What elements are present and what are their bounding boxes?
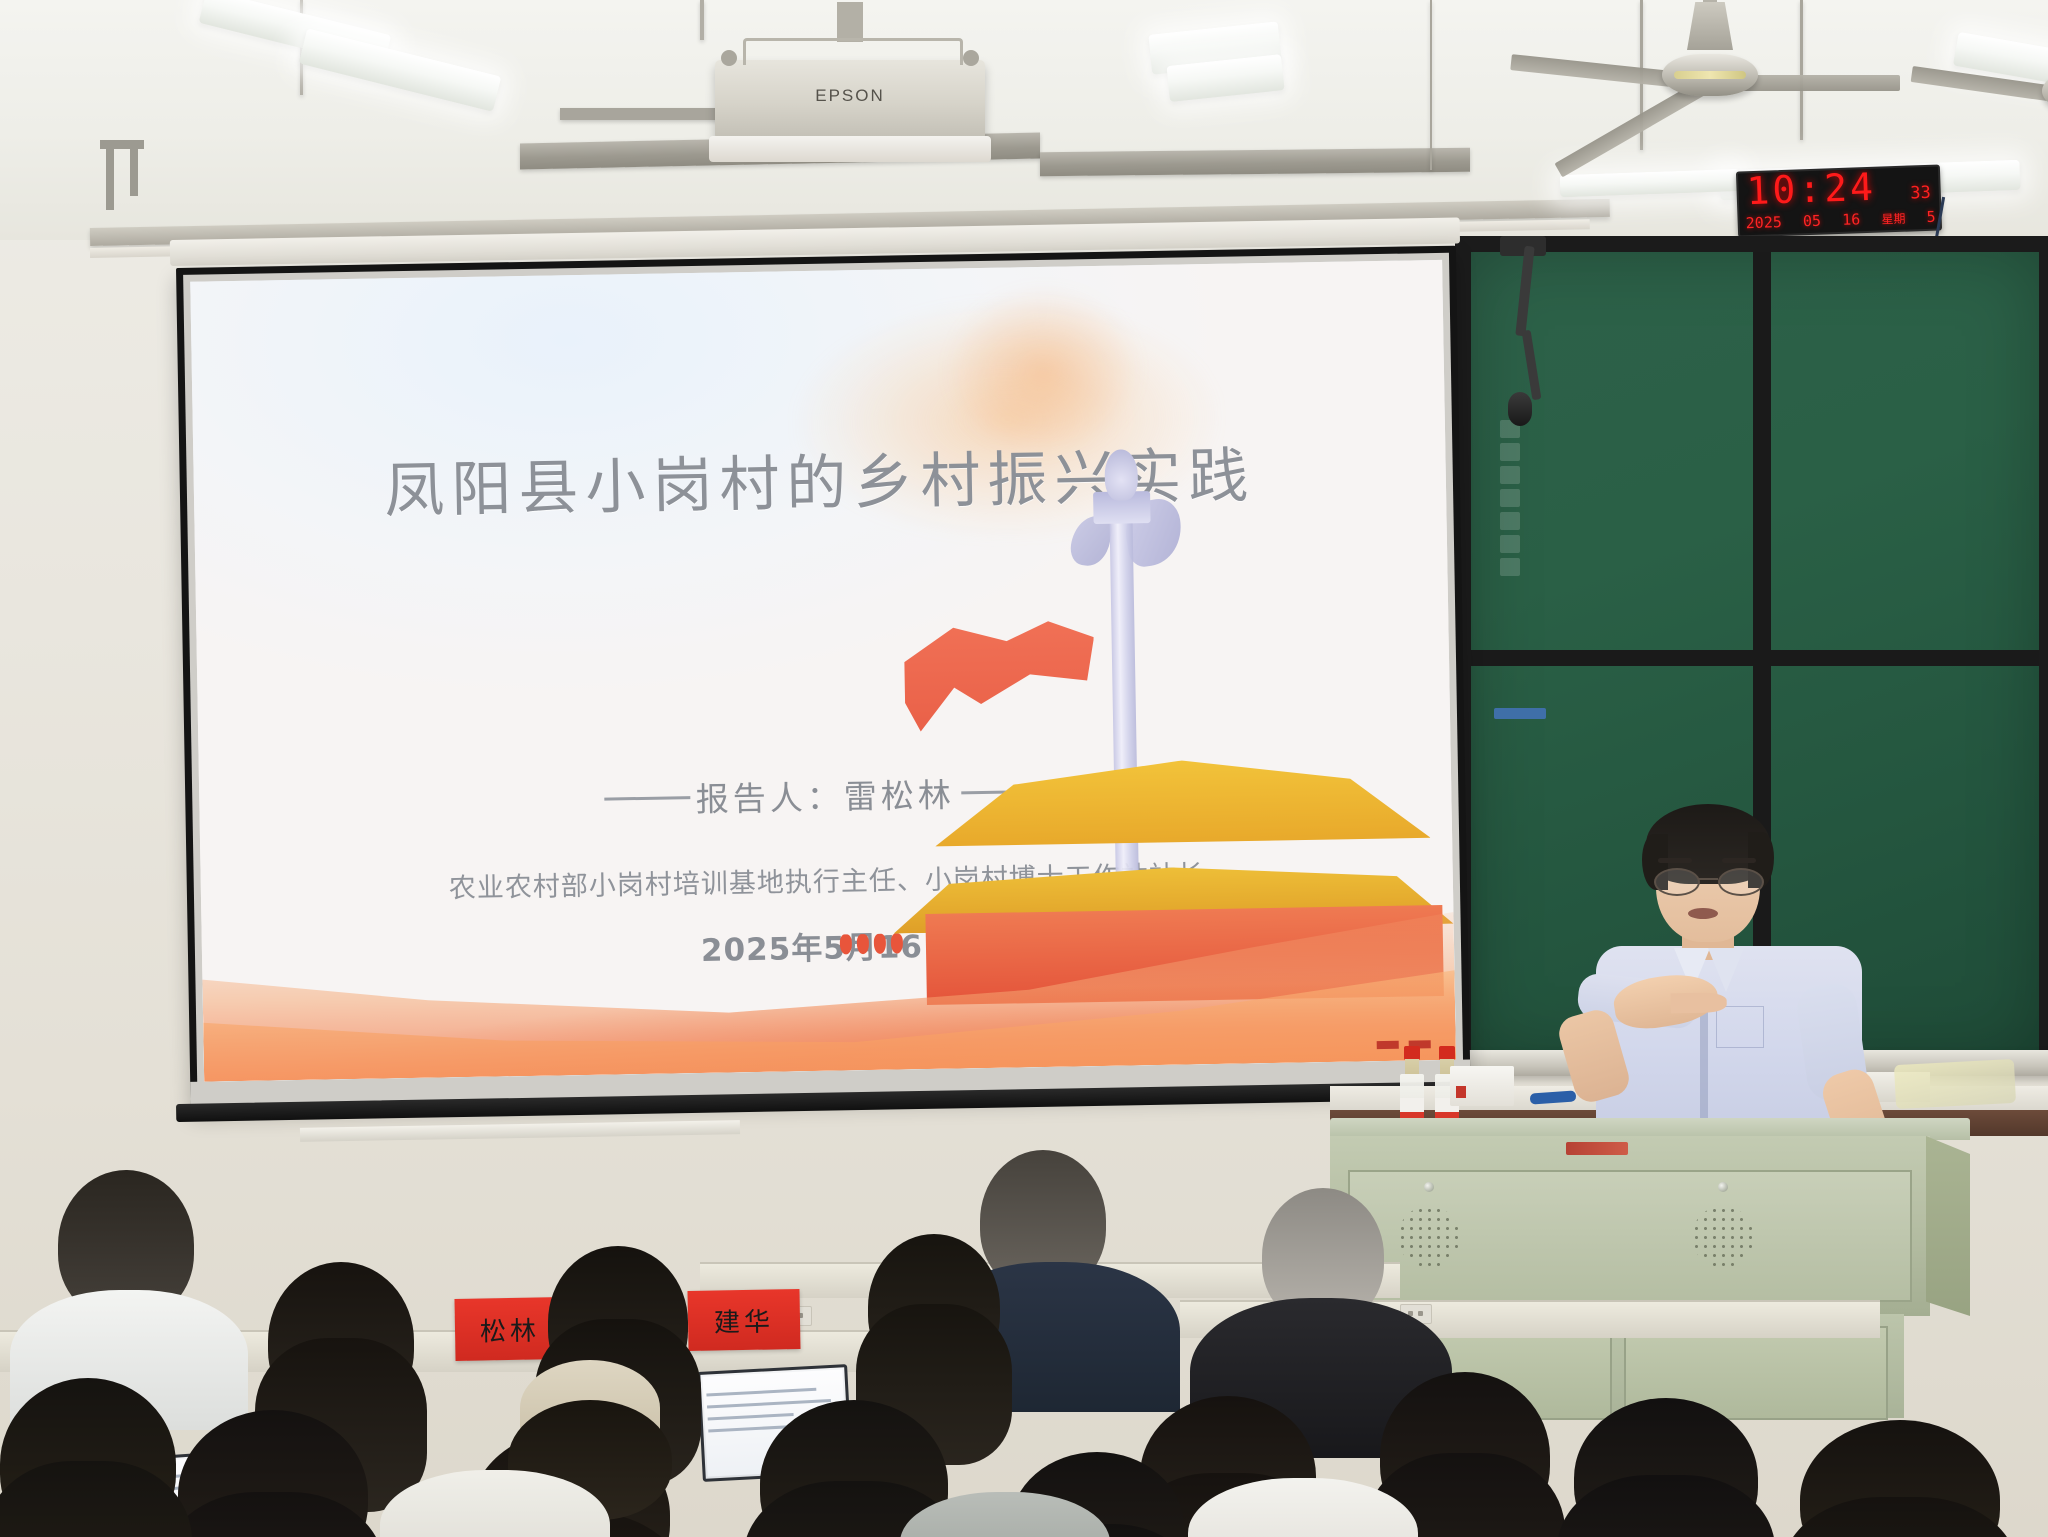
red-ribbon-graphic (904, 618, 1096, 741)
podium-access-panel[interactable] (1348, 1170, 1912, 1302)
plastic-bag (1894, 1059, 2016, 1109)
clock-year: 2025 (1745, 213, 1782, 232)
clock-time: 10:24 (1746, 165, 1877, 213)
presenter-mouth (1688, 908, 1718, 919)
presenter-eyebrow (1722, 858, 1756, 863)
projector: EPSON (715, 60, 985, 140)
projector-brand-label: EPSON (715, 86, 985, 106)
blackboard-label-tag (1494, 708, 1546, 719)
board-icon-help[interactable] (1500, 558, 1520, 576)
ceiling-fan (1560, 40, 1860, 110)
podium-screw (1718, 1182, 1728, 1192)
clock-weekday-label: 星期 (1881, 209, 1906, 227)
board-icon-pen[interactable] (1500, 512, 1520, 530)
screen-frame: 凤阳县小岗村的乡村振兴实践 报告人：雷松林 农业农村部小岗村培训基地执行主任、小… (176, 246, 1470, 1108)
projector-body-base (709, 136, 991, 162)
led-wall-clock: 10:24 33 2025 05 16 星期 5 (1736, 164, 1942, 237)
ceiling-beam (1040, 148, 1470, 177)
ceiling-rod (700, 0, 704, 40)
board-icon-prev[interactable] (1500, 466, 1520, 484)
blackboard-divider (1471, 650, 2039, 666)
podium-speaker-grille (1692, 1206, 1754, 1268)
lecture-hall-photo: EPSON 10:24 33 2025 05 16 星期 5 (0, 0, 2048, 1537)
ceiling-fan (1960, 58, 2048, 124)
audience-head (868, 1234, 1000, 1380)
presenter-person (1570, 800, 1910, 1160)
board-icon-eraser[interactable] (1500, 535, 1520, 553)
presenter-glasses (1654, 868, 1764, 892)
audience-head (0, 1378, 176, 1537)
clock-weekday-value: 5 (1926, 208, 1936, 226)
fan-hub (1662, 54, 1758, 96)
fan-hub (2042, 70, 2048, 112)
clock-seconds: 33 (1910, 183, 1931, 204)
projector-knob (963, 50, 979, 66)
podium-speaker-grille (1398, 1206, 1460, 1268)
presentation-slide: 凤阳县小岗村的乡村振兴实践 报告人：雷松林 农业农村部小岗村培训基地执行主任、小… (190, 260, 1456, 1082)
podium-screw (1424, 1182, 1434, 1192)
projector-ceiling-stem (837, 2, 863, 42)
microphone-head (1508, 392, 1532, 426)
projector-mount (743, 38, 963, 65)
podium-side-panel (1926, 1136, 1970, 1316)
gate-upper-roof (934, 756, 1431, 846)
name-placard: 建华 (687, 1289, 800, 1351)
podium-front-panel (1330, 1136, 1930, 1316)
projector-knob (721, 50, 737, 66)
projection-screen[interactable]: 凤阳县小岗村的乡村振兴实践 报告人：雷松林 农业农村部小岗村培训基地执行主任、小… (176, 246, 1470, 1108)
podium-brand-logo (1566, 1142, 1628, 1155)
huabiao-top (1105, 449, 1138, 501)
decorative-dash (604, 796, 690, 801)
presenter-eyebrow (1658, 858, 1692, 863)
placard-text: 建华 (714, 1301, 775, 1339)
audience-head (268, 1262, 414, 1420)
blackboard-control-icons[interactable] (1500, 420, 1522, 581)
board-icon-next[interactable] (1500, 489, 1520, 507)
placard-text: 松林 (480, 1310, 541, 1348)
slide-title: 凤阳县小岗村的乡村振兴实践 (193, 424, 1446, 533)
clock-day: 16 (1842, 210, 1861, 229)
board-icon-menu[interactable] (1500, 443, 1520, 461)
clock-month: 05 (1803, 212, 1822, 231)
screen-wall-bracket (100, 140, 146, 214)
ceiling-rod (1430, 0, 1432, 170)
gate-lanterns (840, 933, 903, 954)
presenter-shirt-pocket (1716, 1006, 1764, 1048)
tissue-box (1450, 1066, 1514, 1106)
